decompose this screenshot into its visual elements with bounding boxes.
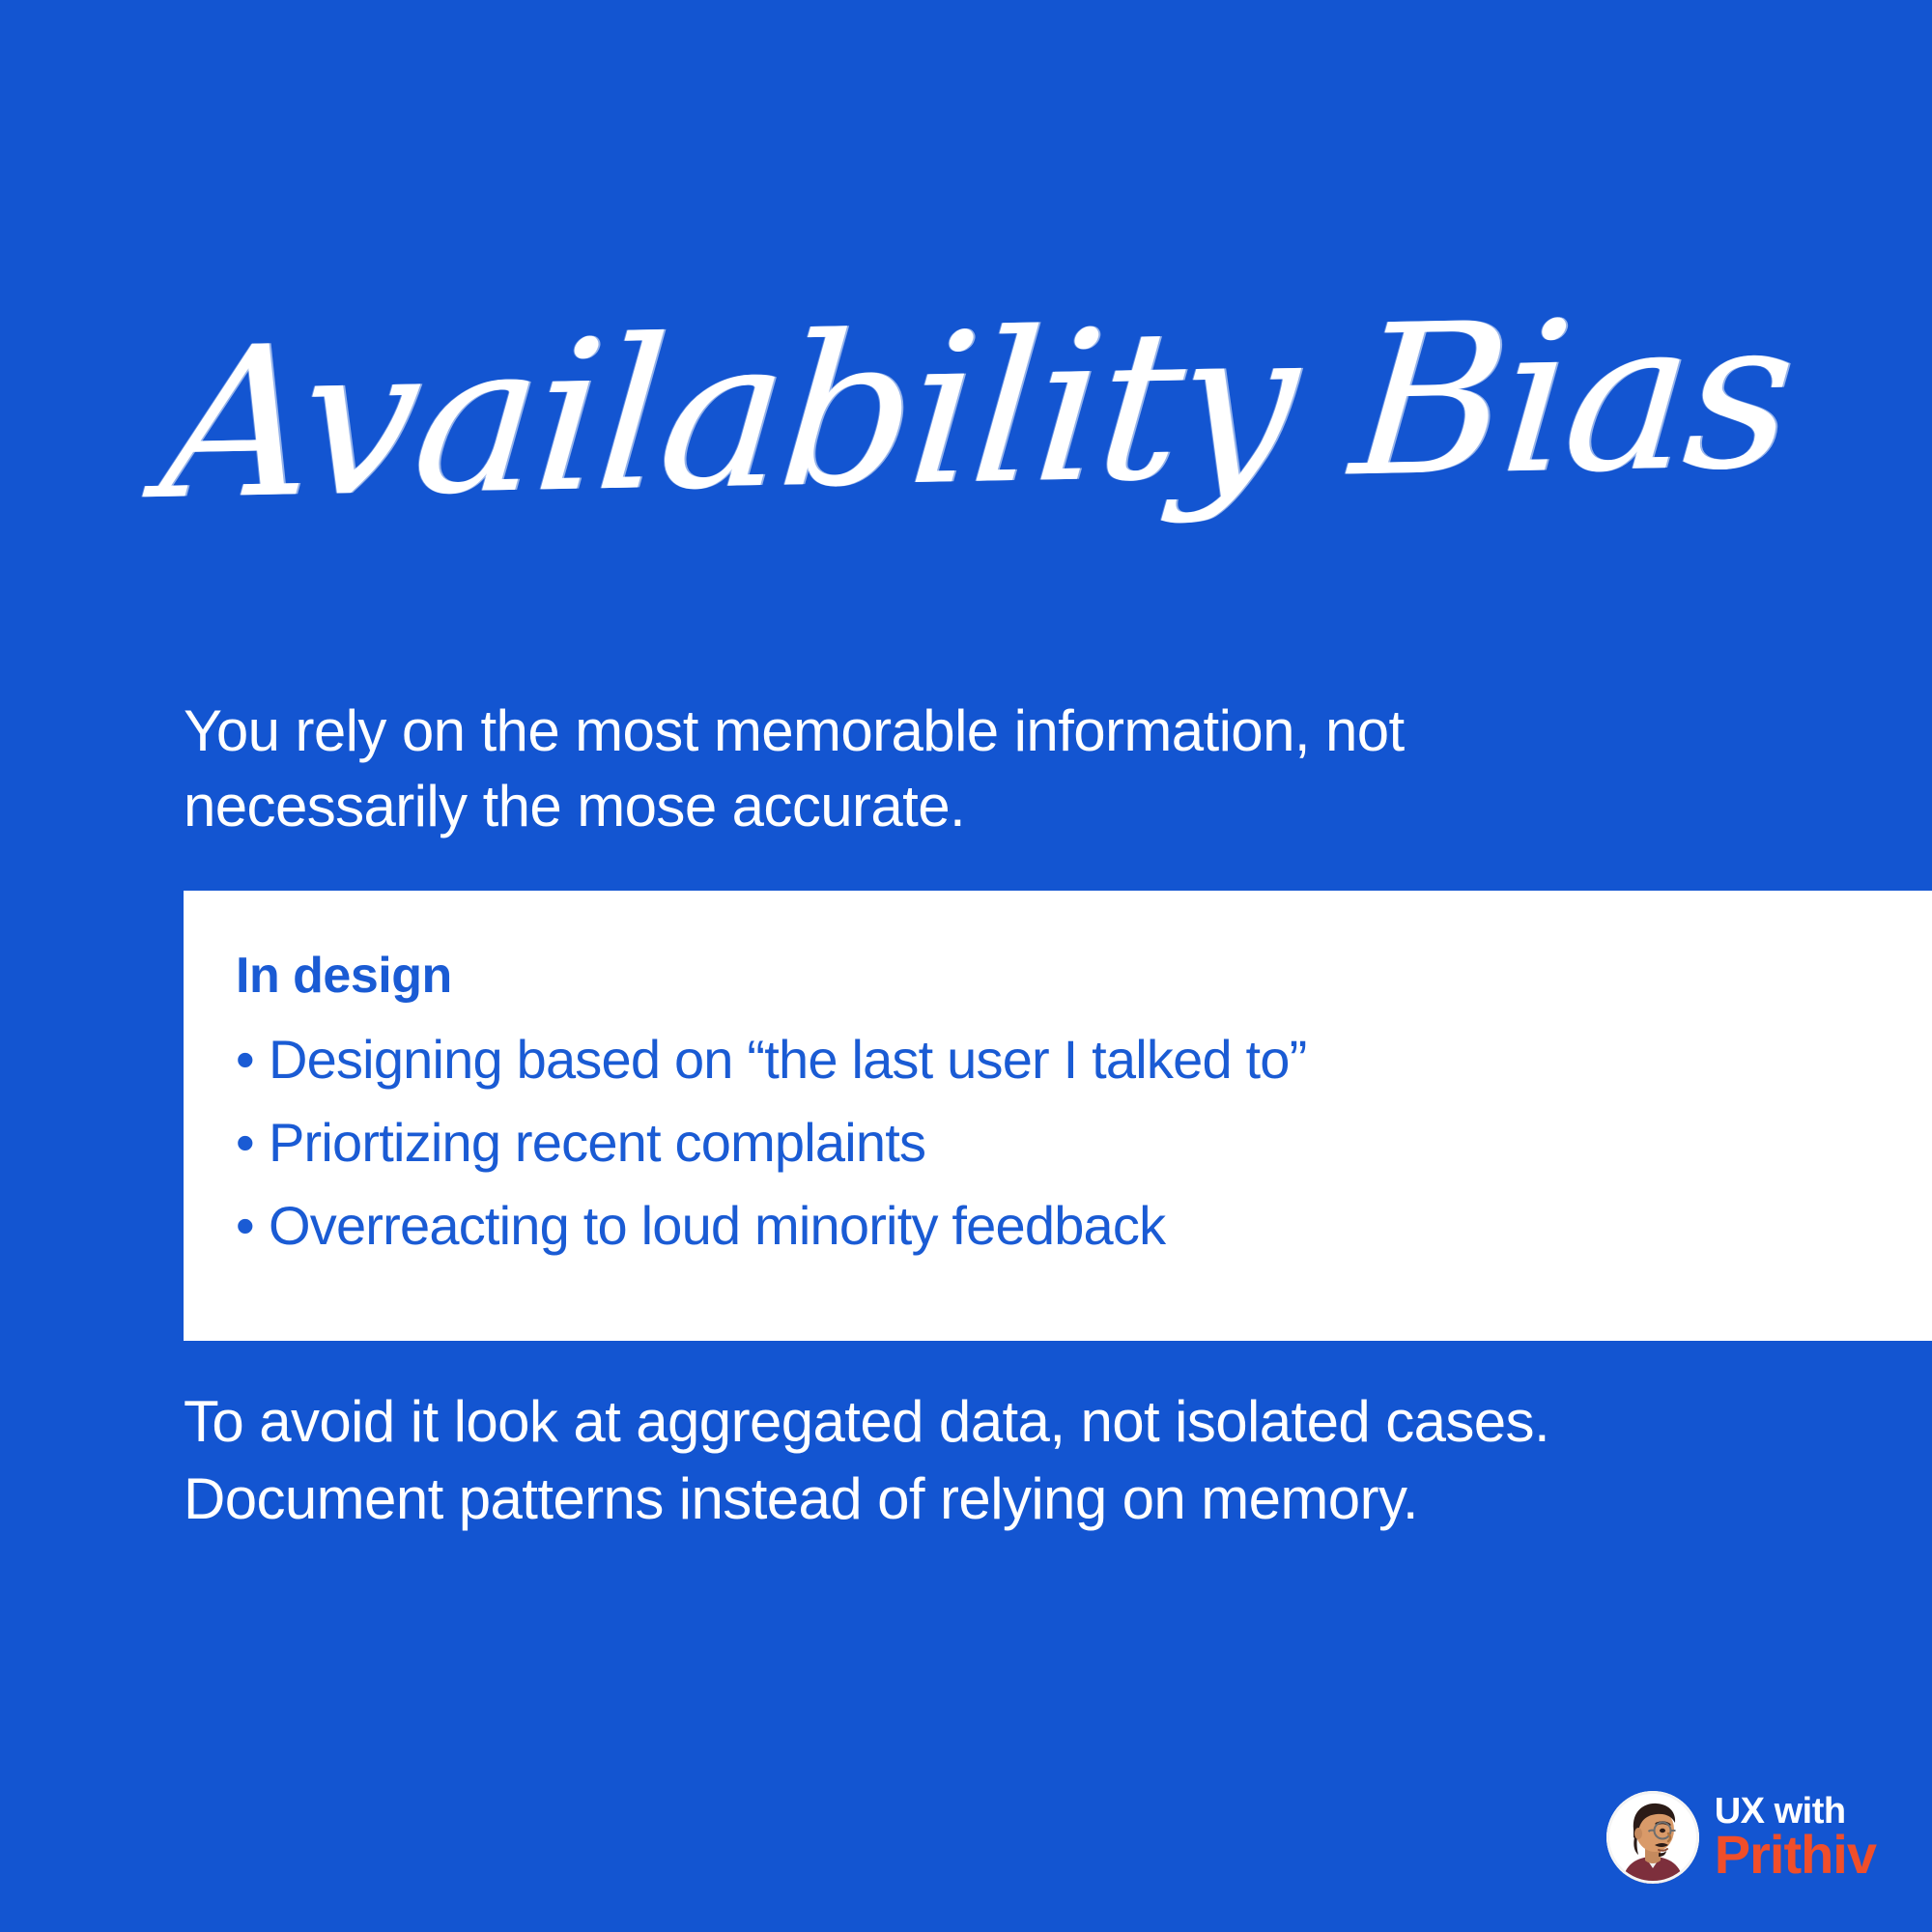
bullet-dot-icon: • bbox=[236, 1101, 269, 1184]
list-item: • Overreacting to loud minority feedback bbox=[236, 1184, 1932, 1267]
logo-wordmark: UX with Prithiv bbox=[1715, 1793, 1876, 1882]
bullet-list: • Designing based on “the last user I ta… bbox=[236, 1018, 1932, 1267]
logo-line-2: Prithiv bbox=[1715, 1828, 1876, 1882]
brand-logo: UX with Prithiv bbox=[1606, 1791, 1876, 1884]
list-item: • Designing based on “the last user I ta… bbox=[236, 1018, 1932, 1101]
avatar bbox=[1606, 1791, 1699, 1884]
page-title: Availability Bias bbox=[152, 251, 1687, 570]
list-item-label: Overreacting to loud minority feedback bbox=[269, 1184, 1165, 1267]
list-item-label: Designing based on “the last user I talk… bbox=[269, 1018, 1307, 1101]
subtitle-text: You rely on the most memorable informati… bbox=[184, 694, 1613, 844]
card-heading: In design bbox=[236, 947, 1932, 1005]
footnote-text: To avoid it look at aggregated data, not… bbox=[184, 1383, 1729, 1538]
bullet-dot-icon: • bbox=[236, 1018, 269, 1101]
bullet-dot-icon: • bbox=[236, 1184, 269, 1267]
list-item-label: Priortizing recent complaints bbox=[269, 1101, 925, 1184]
list-item: • Priortizing recent complaints bbox=[236, 1101, 1932, 1184]
card-content: In design • Designing based on “the last… bbox=[184, 891, 1932, 1267]
in-design-card: In design • Designing based on “the last… bbox=[184, 891, 1932, 1341]
slide-canvas: Availability Bias You rely on the most m… bbox=[0, 0, 1932, 1932]
